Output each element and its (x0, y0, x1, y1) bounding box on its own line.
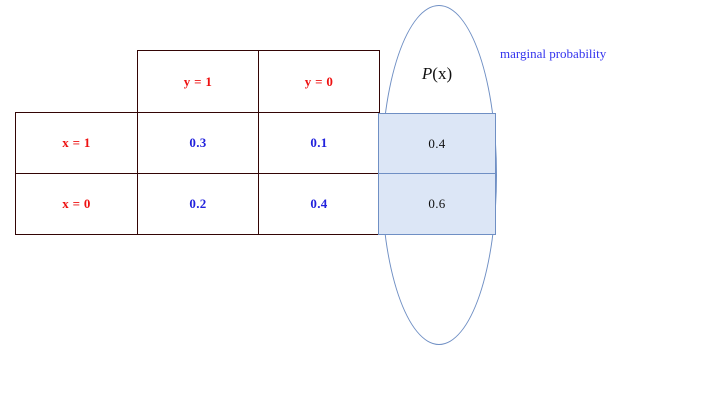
table-corner-cell (16, 51, 138, 113)
table-header-row: y = 1 y = 0 (16, 51, 380, 113)
joint-value-x0-y0: 0.4 (259, 174, 380, 235)
column-header-y1: y = 1 (138, 51, 259, 113)
joint-value-x1-y0: 0.1 (259, 113, 380, 174)
joint-value-x0-y1: 0.2 (138, 174, 259, 235)
marginal-probability-column: 0.4 0.6 (378, 113, 496, 235)
marginal-header-arg: (x) (432, 64, 452, 83)
marginal-probability-annotation: marginal probability (500, 46, 606, 62)
column-header-y0: y = 0 (259, 51, 380, 113)
marginal-value-x1: 0.4 (378, 113, 496, 174)
table-row: x = 1 0.3 0.1 (16, 113, 380, 174)
table-row: x = 0 0.2 0.4 (16, 174, 380, 235)
joint-value-x1-y1: 0.3 (138, 113, 259, 174)
joint-probability-table: y = 1 y = 0 x = 1 0.3 0.1 x = 0 0.2 0.4 (15, 50, 380, 235)
row-header-x1: x = 1 (16, 113, 138, 174)
marginal-header-p-symbol: P (422, 64, 432, 83)
row-header-x0: x = 0 (16, 174, 138, 235)
marginal-value-x0: 0.6 (378, 174, 496, 235)
marginal-column-header: P(x) (378, 64, 496, 84)
diagram-canvas: y = 1 y = 0 x = 1 0.3 0.1 x = 0 0.2 0.4 … (0, 0, 715, 403)
